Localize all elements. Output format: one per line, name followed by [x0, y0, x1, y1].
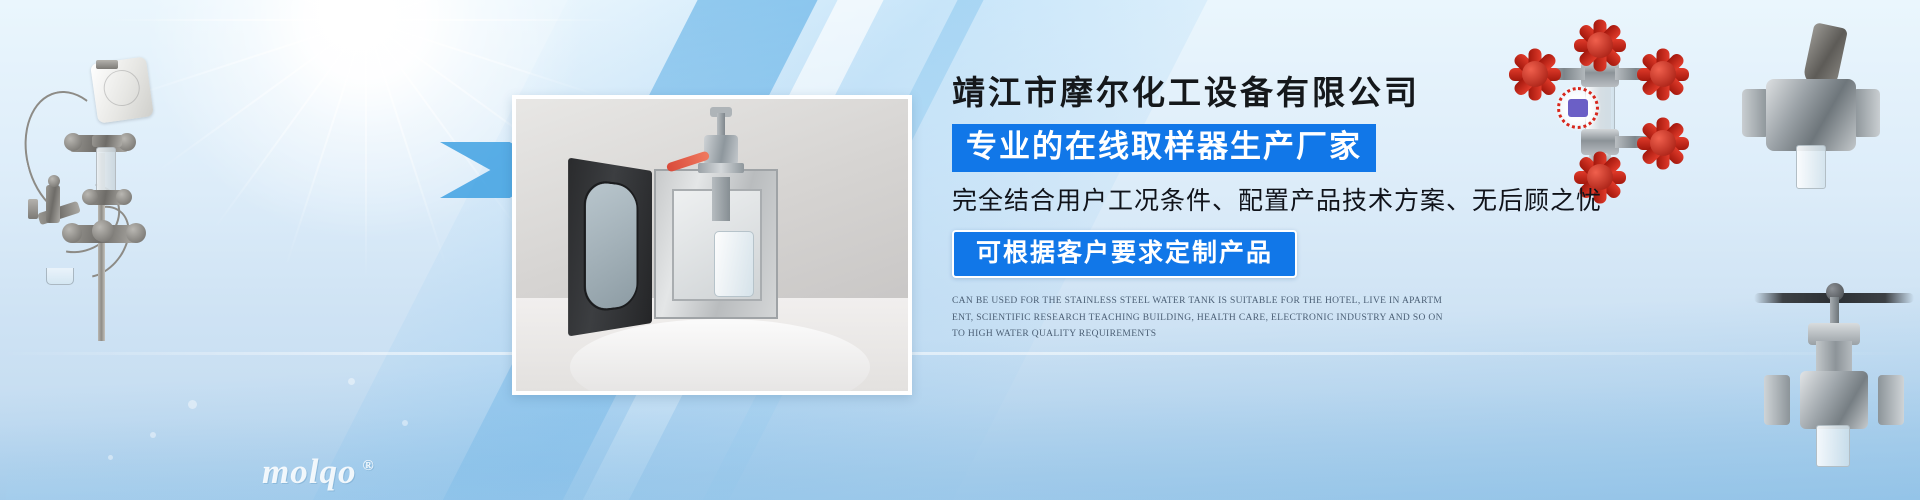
promo-banner: 靖江市摩尔化工设备有限公司 专业的在线取样器生产厂家 完全结合用户工况条件、配置… [0, 0, 1920, 500]
bottom-valve-image [1760, 275, 1910, 450]
bubble-icon [150, 432, 156, 438]
flange-body-image [1740, 25, 1910, 205]
left-equipment-image [10, 35, 190, 335]
watermark-logo: molqo® [262, 452, 375, 492]
product-photo[interactable] [512, 95, 912, 395]
registered-mark-icon: ® [362, 458, 374, 474]
subline-text: 完全结合用户工况条件、配置产品技术方案、无后顾之忧 [952, 186, 1702, 216]
banner-copy: 靖江市摩尔化工设备有限公司 专业的在线取样器生产厂家 完全结合用户工况条件、配置… [952, 76, 1702, 343]
handwheel-icon [1574, 19, 1626, 71]
watermark-text: molqo [262, 452, 356, 491]
bubble-icon [188, 400, 197, 409]
bubble-icon [108, 455, 113, 460]
horizon-line [0, 352, 1920, 355]
headline-banner: 专业的在线取样器生产厂家 [952, 124, 1376, 172]
sun-glow [297, 0, 417, 72]
customize-cta-button[interactable]: 可根据客户要求定制产品 [952, 230, 1297, 278]
bubble-icon [402, 420, 408, 426]
bubble-icon [348, 378, 355, 385]
fineprint-text: CAN BE USED FOR THE STAINLESS STEEL WATE… [952, 293, 1444, 343]
company-name: 靖江市摩尔化工设备有限公司 [952, 76, 1702, 112]
